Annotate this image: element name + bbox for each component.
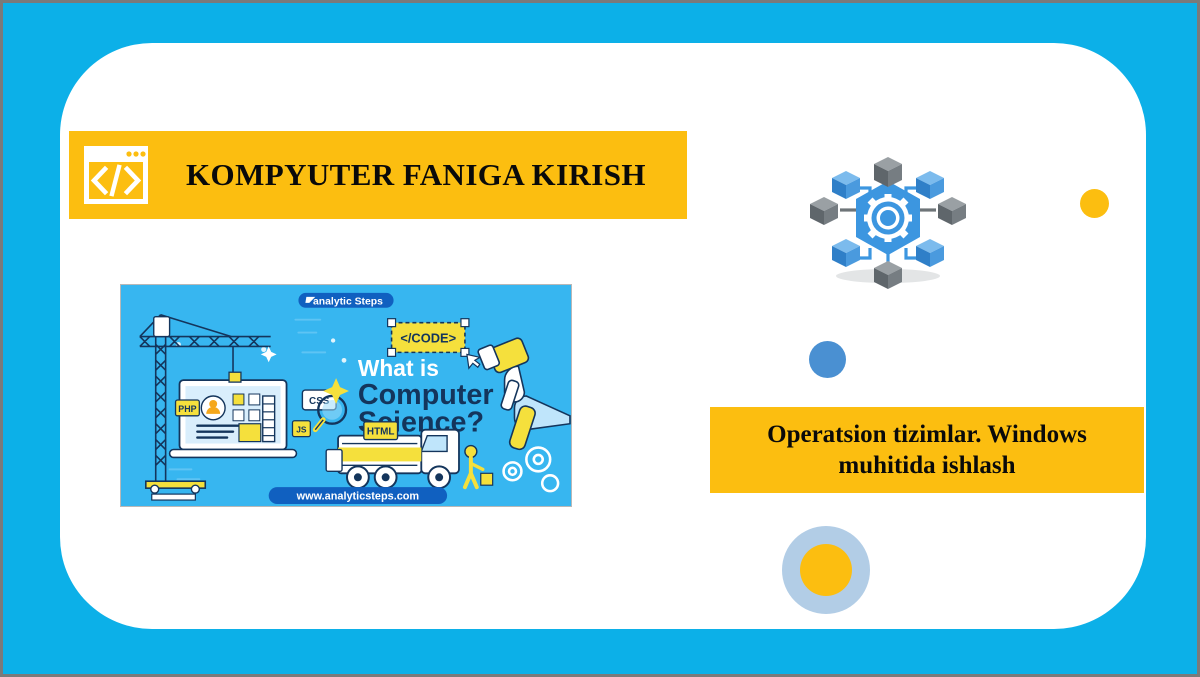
svg-text:www.analyticsteps.com: www.analyticsteps.com <box>296 491 420 503</box>
js-tag: JS <box>292 421 310 437</box>
page-title: KOMPYUTER FANIGA KIRISH <box>153 157 687 193</box>
node-cube-top-right <box>916 171 944 199</box>
ring-dot-outer <box>782 526 870 614</box>
network-graphic <box>798 143 978 293</box>
node-cube-top-left <box>832 171 860 199</box>
brand-badge: analytic Steps <box>298 293 393 308</box>
node-cube-bottom-left <box>832 239 860 267</box>
node-cube-bottom <box>874 261 902 289</box>
slide: KOMPYUTER FANIGA KIRISH <box>0 0 1200 677</box>
php-tag: PHP <box>176 400 200 416</box>
svg-text:JS: JS <box>296 425 307 435</box>
svg-text:</CODE>: </CODE> <box>400 330 456 345</box>
code-window-icon <box>79 138 153 212</box>
node-cube-right <box>938 197 966 225</box>
computer-science-image: analytic Steps <box>120 284 572 507</box>
svg-text:PHP: PHP <box>178 404 196 414</box>
gold-dot-small <box>1080 189 1109 218</box>
subtitle-box: Operatsion tizimlar. Windows muhitida is… <box>710 407 1144 493</box>
subtitle-text: Operatsion tizimlar. Windows muhitida is… <box>710 419 1144 482</box>
network-nodes-gear-icon <box>798 143 978 293</box>
slide-title-bar: KOMPYUTER FANIGA KIRISH <box>69 131 687 219</box>
node-cube-top <box>874 157 902 187</box>
computer-science-illustration: analytic Steps <box>121 285 571 506</box>
ring-dot-inner <box>800 544 852 596</box>
svg-text:analytic Steps: analytic Steps <box>313 296 383 307</box>
svg-text:HTML: HTML <box>367 427 395 438</box>
blue-dot-medium <box>809 341 846 378</box>
node-cube-left <box>810 197 838 225</box>
illu-heading-line1: What is <box>358 355 439 381</box>
illu-url-badge: www.analyticsteps.com <box>269 487 447 504</box>
node-cube-bottom-right <box>916 239 944 267</box>
